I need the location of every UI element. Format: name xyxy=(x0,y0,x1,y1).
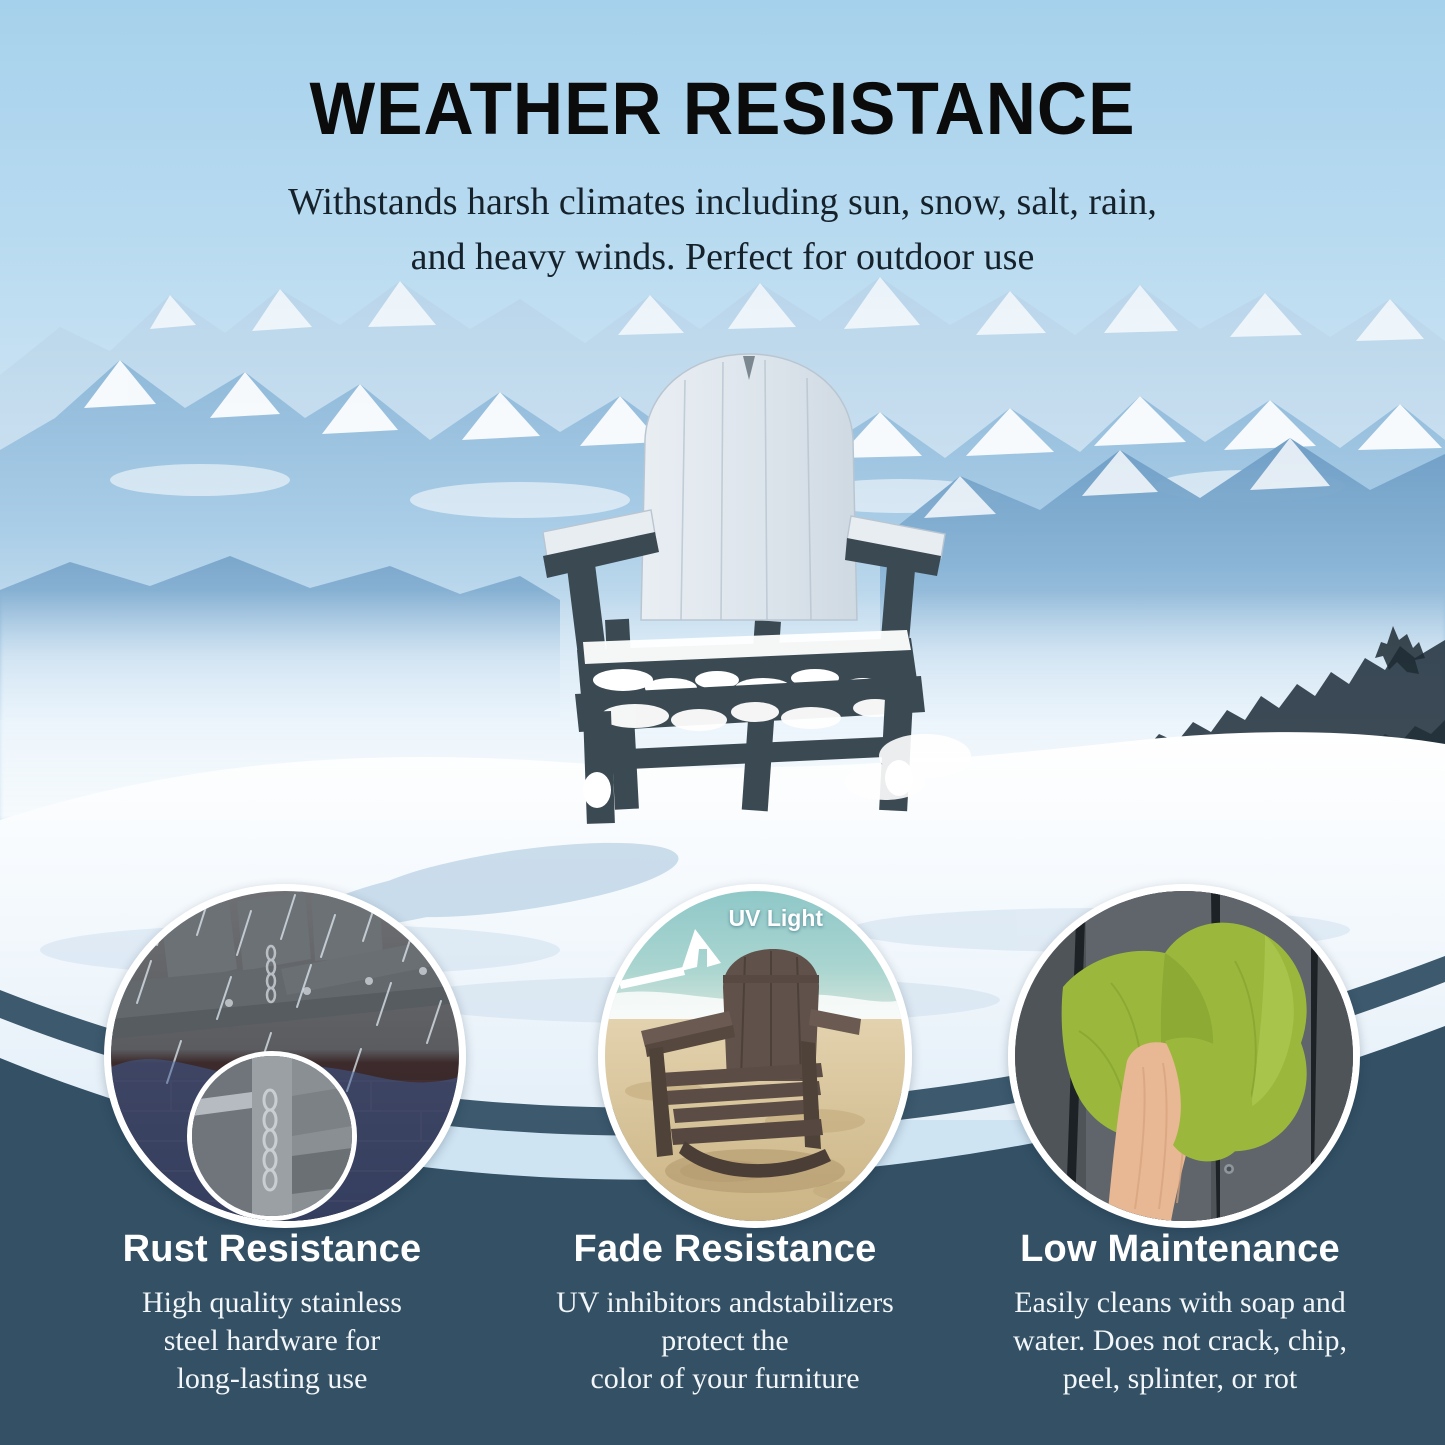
feature-body-line: color of your furniture xyxy=(520,1360,930,1398)
snow-covered-chair-illustration xyxy=(455,320,995,840)
feature-image-rust-resistance xyxy=(104,884,466,1228)
subtitle-line-1: Withstands harsh climates including sun,… xyxy=(0,175,1445,230)
feature-body-line: water. Does not crack, chip, xyxy=(970,1322,1390,1360)
feature-body-line: peel, splinter, or rot xyxy=(970,1360,1390,1398)
chain-detail-inset xyxy=(187,1051,357,1221)
feature-body-line: long-lasting use xyxy=(72,1360,472,1398)
subtitle-line-2: and heavy winds. Perfect for outdoor use xyxy=(0,230,1445,285)
cleaning-cloth-icon xyxy=(1015,891,1353,1221)
weather-resistance-infographic: WEATHER RESISTANCE Withstands harsh clim… xyxy=(0,0,1445,1445)
feature-title: Low Maintenance xyxy=(970,1228,1390,1271)
feature-text-rust-resistance: Rust Resistance High quality stainless s… xyxy=(72,1228,472,1397)
feature-image-low-maintenance xyxy=(1008,884,1360,1228)
feature-body-line: High quality stainless xyxy=(72,1284,472,1322)
uv-beach-chair-icon xyxy=(605,891,905,1221)
feature-title: Rust Resistance xyxy=(72,1228,472,1271)
feature-title: Fade Resistance xyxy=(520,1228,930,1271)
feature-text-low-maintenance: Low Maintenance Easily cleans with soap … xyxy=(970,1228,1390,1397)
feature-body-line: steel hardware for xyxy=(72,1322,472,1360)
feature-body-line: UV inhibitors andstabilizers xyxy=(520,1284,930,1322)
feature-text-fade-resistance: Fade Resistance UV inhibitors andstabili… xyxy=(520,1228,930,1397)
feature-image-fade-resistance: UV Light xyxy=(598,884,912,1228)
feature-body-line: Easily cleans with soap and xyxy=(970,1284,1390,1322)
feature-body: High quality stainless steel hardware fo… xyxy=(72,1284,472,1397)
feature-body-line: protect the xyxy=(520,1322,930,1360)
page-subtitle: Withstands harsh climates including sun,… xyxy=(0,175,1445,285)
feature-body: UV inhibitors andstabilizers protect the… xyxy=(520,1284,930,1397)
page-title: WEATHER RESISTANCE xyxy=(43,72,1401,146)
feature-body: Easily cleans with soap and water. Does … xyxy=(970,1284,1390,1397)
